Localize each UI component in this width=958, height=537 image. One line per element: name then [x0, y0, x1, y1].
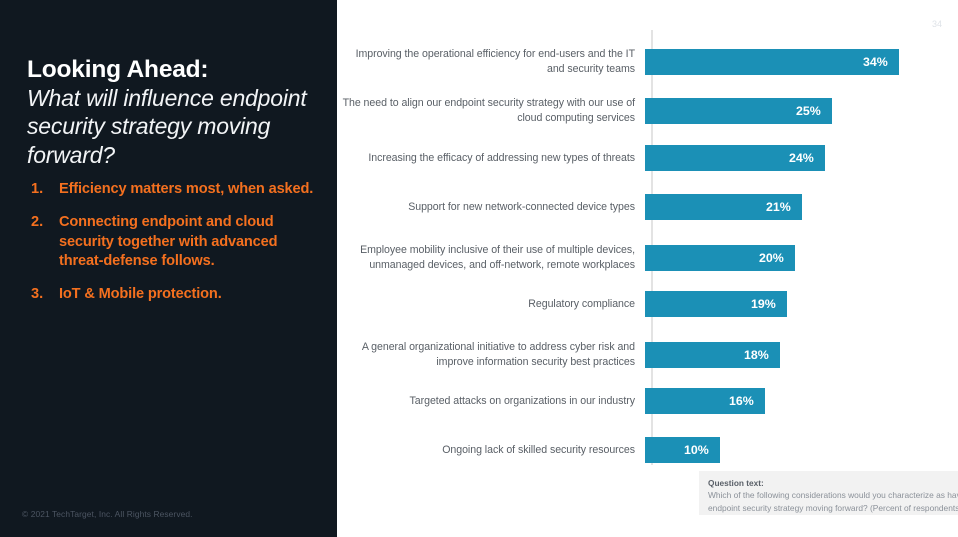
takeaways-list: 1. Efficiency matters most, when asked. …	[31, 180, 321, 318]
bar-value-label: 20%	[759, 245, 784, 271]
bar-category-label: The need to align our endpoint security …	[337, 96, 643, 125]
bar-category-label: A general organizational initiative to a…	[337, 340, 643, 369]
bar-track: 20%	[645, 245, 958, 271]
bar-value-label: 25%	[796, 98, 821, 124]
list-item: 1. Efficiency matters most, when asked.	[31, 180, 321, 199]
bar-value-label: 16%	[729, 388, 754, 414]
list-item-label: Efficiency matters most, when asked.	[59, 180, 313, 199]
bar-category-label: Targeted attacks on organizations in our…	[337, 394, 643, 409]
bar	[645, 49, 899, 75]
page-title: Looking Ahead:	[27, 56, 319, 83]
bar-value-label: 21%	[766, 194, 791, 220]
bar-track: 21%	[645, 194, 958, 220]
bar-value-label: 10%	[684, 437, 709, 463]
question-text-heading: Question text:	[708, 478, 958, 488]
bar-value-label: 24%	[789, 145, 814, 171]
bar-value-label: 19%	[751, 291, 776, 317]
chart-bar-row: Employee mobility inclusive of their use…	[337, 243, 958, 272]
copyright-notice: © 2021 TechTarget, Inc. All Rights Reser…	[22, 509, 193, 519]
chart-bar-row: Support for new network-connected device…	[337, 194, 958, 220]
chart-bar-row: Increasing the efficacy of addressing ne…	[337, 145, 958, 171]
horizontal-bar-chart: Improving the operational efficiency for…	[337, 30, 958, 465]
bar-track: 34%	[645, 49, 958, 75]
list-item: 3. IoT & Mobile protection.	[31, 285, 321, 304]
bar-track: 18%	[645, 342, 958, 368]
bar-track: 19%	[645, 291, 958, 317]
bar-category-label: Ongoing lack of skilled security resourc…	[337, 443, 643, 458]
page-subtitle: What will influence endpoint security st…	[27, 84, 319, 168]
chart-bar-row: A general organizational initiative to a…	[337, 340, 958, 369]
bar-category-label: Employee mobility inclusive of their use…	[337, 243, 643, 272]
question-text-body: Which of the following considerations wo…	[708, 489, 958, 514]
title-block: Looking Ahead: What will influence endpo…	[27, 56, 319, 169]
chart-bar-row: Regulatory compliance 19%	[337, 291, 958, 317]
bar-category-label: Improving the operational efficiency for…	[337, 47, 643, 76]
chart-bar-row: Ongoing lack of skilled security resourc…	[337, 437, 958, 463]
chart-bar-row: The need to align our endpoint security …	[337, 96, 958, 125]
chart-bar-row: Targeted attacks on organizations in our…	[337, 388, 958, 414]
list-item: 2. Connecting endpoint and cloud securit…	[31, 213, 321, 271]
bar-category-label: Regulatory compliance	[337, 297, 643, 312]
left-content-panel: Looking Ahead: What will influence endpo…	[0, 0, 337, 537]
bar-track: 24%	[645, 145, 958, 171]
bar-track: 10%	[645, 437, 958, 463]
list-item-number: 3.	[31, 285, 59, 304]
list-item-number: 2.	[31, 213, 59, 271]
bar-track: 16%	[645, 388, 958, 414]
bar-value-label: 34%	[863, 49, 888, 75]
bar-category-label: Support for new network-connected device…	[337, 200, 643, 215]
chart-area: 34 Improving the operational efficiency …	[337, 0, 958, 537]
list-item-number: 1.	[31, 180, 59, 199]
list-item-label: Connecting endpoint and cloud security t…	[59, 213, 321, 271]
question-text-box: Question text: Which of the following co…	[699, 471, 958, 515]
bar-value-label: 18%	[744, 342, 769, 368]
chart-bar-row: Improving the operational efficiency for…	[337, 47, 958, 76]
bar-category-label: Increasing the efficacy of addressing ne…	[337, 151, 643, 166]
bar-track: 25%	[645, 98, 958, 124]
list-item-label: IoT & Mobile protection.	[59, 285, 222, 304]
page-number: 34	[932, 19, 942, 29]
